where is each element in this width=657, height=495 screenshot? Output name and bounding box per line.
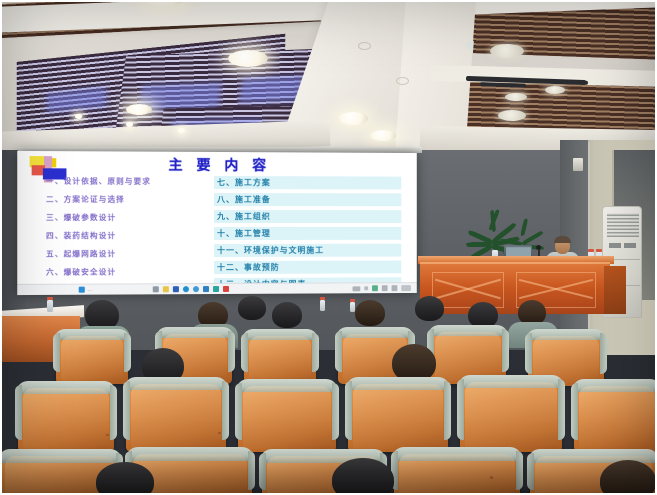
presenter-hair [554,236,571,243]
auditorium-seat[interactable] [348,378,448,452]
microphone-head-icon [536,245,541,250]
slide-left-column: 一、设计依据、原则与要求 二、方案论证与选择 三、爆破参数设计 四、装药结构设计… [46,175,208,291]
ac-panel-left [609,243,621,248]
slide-item-right: 九、施工组织 [214,210,401,223]
auditorium-seat[interactable] [244,330,316,384]
tray-keyboard-icon[interactable] [352,286,360,291]
app-red-icon[interactable] [223,286,229,292]
auditorium-seat[interactable] [238,380,336,452]
slide-item-left: 五、起爆网路设计 [46,248,208,259]
auditorium-seat[interactable] [574,380,657,452]
tray-battery-icon[interactable] [392,285,398,291]
taskbar-left-label: ··· [88,287,92,292]
floor-shadow [0,455,657,495]
chrome-icon[interactable] [193,286,199,292]
auditorium-seat[interactable] [126,378,226,452]
water-bottle-table [47,300,53,312]
water-bottle-table-cap [47,297,53,300]
tray-chevron-icon[interactable] [364,286,368,290]
slide-item-left: 六、爆破安全设计 [46,266,208,278]
slide-item-left: 一、设计依据、原则与要求 [46,175,208,187]
slide-item-right: 七、施工方案 [214,176,401,189]
tray-ime-icon[interactable] [401,285,411,291]
audience-head-far-4 [272,302,302,328]
photo-scene: 主 要 内 容 一、设计依据、原则与要求 二、方案论证与选择 三、爆破参数设计 … [0,0,657,495]
wall-sensor-icon [573,158,583,171]
folder-icon[interactable] [79,287,85,293]
ceiling-downlight-2 [126,122,133,127]
taskbar-left-group[interactable]: ··· [79,287,92,293]
file-explorer-icon[interactable] [153,286,159,292]
slide-item-right: 十、施工管理 [214,227,401,240]
word-icon[interactable] [173,286,179,292]
slide-content-columns: 一、设计依据、原则与要求 二、方案论证与选择 三、爆破参数设计 四、装药结构设计… [46,175,405,291]
audience-head-far-5 [355,300,385,326]
ceiling-lamp-9 [545,86,565,94]
media-icon[interactable] [203,286,209,292]
app-teal-icon[interactable] [213,286,219,292]
wooden-podium [420,262,610,314]
ceiling-lamp-2 [228,50,268,67]
water-bottle-cap-1 [588,249,594,252]
ceiling-lamp-3 [126,104,152,115]
water-bottle-row-3-cap [350,299,355,302]
folder-yellow-icon[interactable] [163,286,169,292]
slide-item-right: 十二、事故预防 [214,260,401,274]
projection-screen: 主 要 内 容 一、设计依据、原则与要求 二、方案论证与选择 三、爆破参数设计 … [17,151,417,295]
taskbar-tray-group[interactable] [352,285,410,291]
slide-item-right: 八、施工准备 [214,193,401,206]
ceiling-lamp-4 [338,112,368,125]
water-bottle-cap-2 [596,249,602,252]
ceiling-vent-ring-1 [358,42,371,50]
auditorium-seat[interactable] [56,330,128,384]
slide-right-column: 七、施工方案 八、施工准备 九、施工组织 十、施工管理 十一、环境保护与文明施工… [214,176,401,291]
ceiling-vent-ring-2 [396,77,409,85]
ceiling-lamp-6 [490,44,524,58]
tray-speaker-icon[interactable] [382,285,388,291]
slide-item-left: 四、装药结构设计 [46,230,208,241]
ceiling-downlight-3 [178,128,185,133]
ceiling-lamp-7 [498,110,526,121]
ac-grille-icon [607,213,639,237]
auditorium-seat[interactable] [18,382,114,452]
water-bottle-row-2 [320,300,325,311]
presentation-slide: 主 要 内 容 一、设计依据、原则与要求 二、方案论证与选择 三、爆破参数设计 … [17,151,417,295]
slide-item-left: 二、方案论证与选择 [46,194,208,205]
auditorium-seat[interactable] [460,376,562,452]
slide-item-left: 三、爆破参数设计 [46,212,208,223]
audience-head-far-3 [238,296,266,320]
podium-side-panel [604,266,626,314]
slide-item-right: 十一、环境保护与文明施工 [214,244,401,257]
slide-title: 主 要 内 容 [17,154,417,176]
ac-panel-right [624,243,636,248]
audience-head-far-6 [415,296,444,321]
taskbar-center-group[interactable] [153,286,229,292]
ceiling [0,0,657,152]
water-bottle-row-2-cap [320,297,325,300]
windows-taskbar[interactable]: ··· [17,282,417,295]
ceiling-lamp-8 [505,93,527,101]
tray-network-icon[interactable] [372,285,378,291]
ceiling-lamp-5 [370,130,396,141]
edge-icon[interactable] [183,286,189,292]
ceiling-downlight-1 [75,114,82,119]
